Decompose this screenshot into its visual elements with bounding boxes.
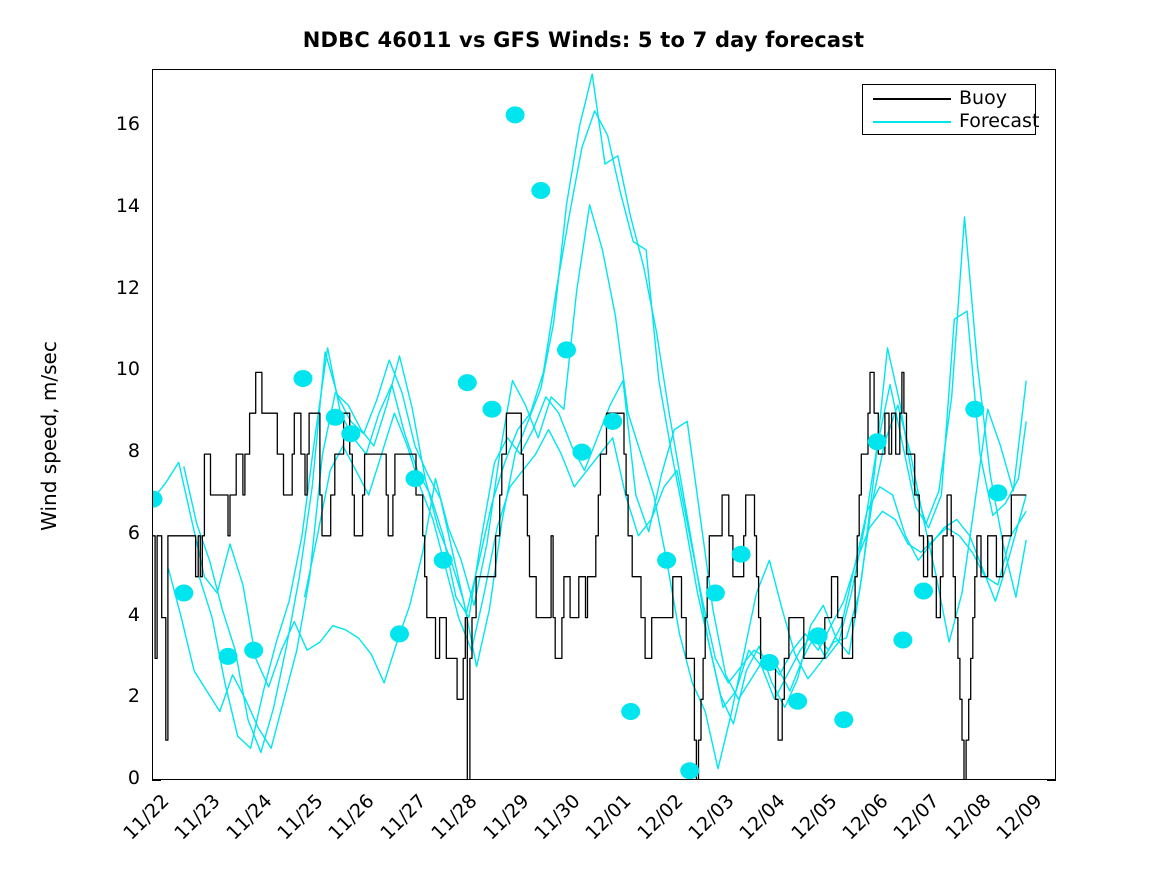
x-tick-label: 11/28 <box>422 790 481 849</box>
x-tick-label: 11/23 <box>166 790 225 849</box>
forecast-line <box>168 74 1026 748</box>
forecast-marker-dot <box>458 374 477 391</box>
y-tick-mark <box>152 780 161 781</box>
y-tick-label: 10 <box>94 358 140 380</box>
x-tick-label: 12/05 <box>782 790 841 849</box>
x-tick-label: 11/24 <box>217 790 276 849</box>
forecast-marker-dot <box>244 642 263 659</box>
forecast-marker-dot <box>483 401 502 418</box>
forecast-marker-dot <box>621 703 640 720</box>
forecast-marker-dot <box>657 552 676 569</box>
forecast-marker-dot <box>153 491 163 508</box>
forecast-marker-dot <box>732 546 751 563</box>
x-tick-label: 12/04 <box>731 790 790 849</box>
x-tick-label: 12/06 <box>833 790 892 849</box>
forecast-marker-dot <box>760 654 779 671</box>
x-tick-label: 12/07 <box>885 790 944 849</box>
x-tick-label: 11/29 <box>474 790 533 849</box>
x-tick-label: 12/01 <box>576 790 635 849</box>
forecast-marker-dot <box>965 401 984 418</box>
forecast-marker-dot <box>680 762 699 779</box>
y-tick-label: 16 <box>94 113 140 135</box>
forecast-marker-dot <box>868 433 887 450</box>
forecast-marker-dot <box>706 585 725 602</box>
buoy-step-line <box>153 372 1026 780</box>
x-tick-label: 11/22 <box>114 790 173 849</box>
forecast-marker-dot <box>219 648 238 665</box>
y-axis-label: Wind speed, m/sec <box>37 136 61 736</box>
legend-entry-forecast: Forecast <box>863 109 1037 134</box>
x-tick-label: 12/03 <box>679 790 738 849</box>
x-tick-label: 12/09 <box>987 790 1046 849</box>
forecast-marker-group <box>153 106 1007 779</box>
y-tick-label: 4 <box>94 604 140 626</box>
chart-canvas <box>153 70 1056 780</box>
legend-label-buoy: Buoy <box>959 86 1007 111</box>
x-tick-label: 11/27 <box>371 790 430 849</box>
forecast-marker-dot <box>506 106 525 123</box>
forecast-marker-dot <box>434 552 453 569</box>
y-tick-label: 2 <box>94 685 140 707</box>
forecast-marker-dot <box>788 693 807 710</box>
legend-entry-buoy: Buoy <box>863 86 1037 111</box>
forecast-marker-dot <box>294 370 313 387</box>
forecast-marker-dot <box>326 409 345 426</box>
forecast-marker-dot <box>603 413 622 430</box>
forecast-marker-dot <box>341 425 360 442</box>
y-tick-label: 14 <box>94 195 140 217</box>
y-tick-label: 6 <box>94 522 140 544</box>
figure: NDBC 46011 vs GFS Winds: 5 to 7 day fore… <box>0 0 1167 875</box>
forecast-marker-dot <box>893 632 912 649</box>
forecast-marker-dot <box>390 625 409 642</box>
forecast-marker-dot <box>406 470 425 487</box>
x-tick-label: 11/25 <box>268 790 327 849</box>
forecast-marker-dot <box>572 444 591 461</box>
chart-title: NDBC 46011 vs GFS Winds: 5 to 7 day fore… <box>0 28 1167 52</box>
legend-swatch-forecast <box>873 121 951 123</box>
forecast-marker-dot <box>988 484 1007 501</box>
legend-swatch-buoy <box>873 98 951 100</box>
buoy-series-group <box>153 372 1026 780</box>
y-tick-label: 12 <box>94 277 140 299</box>
plot-area <box>152 69 1056 780</box>
x-tick-label: 11/26 <box>320 790 379 849</box>
forecast-marker-dot <box>174 585 193 602</box>
forecast-marker-dot <box>557 341 576 358</box>
y-tick-mark <box>1047 780 1056 781</box>
forecast-marker-dot <box>914 583 933 600</box>
legend: Buoy Forecast <box>862 84 1036 135</box>
legend-label-forecast: Forecast <box>959 109 1039 134</box>
forecast-marker-dot <box>531 182 550 199</box>
forecast-marker-dot <box>809 627 828 644</box>
x-tick-label: 11/30 <box>525 790 584 849</box>
forecast-marker-dot <box>834 711 853 728</box>
x-tick-label: 12/08 <box>936 790 995 849</box>
y-tick-label: 0 <box>94 767 140 789</box>
x-tick-label: 12/02 <box>628 790 687 849</box>
y-tick-label: 8 <box>94 440 140 462</box>
